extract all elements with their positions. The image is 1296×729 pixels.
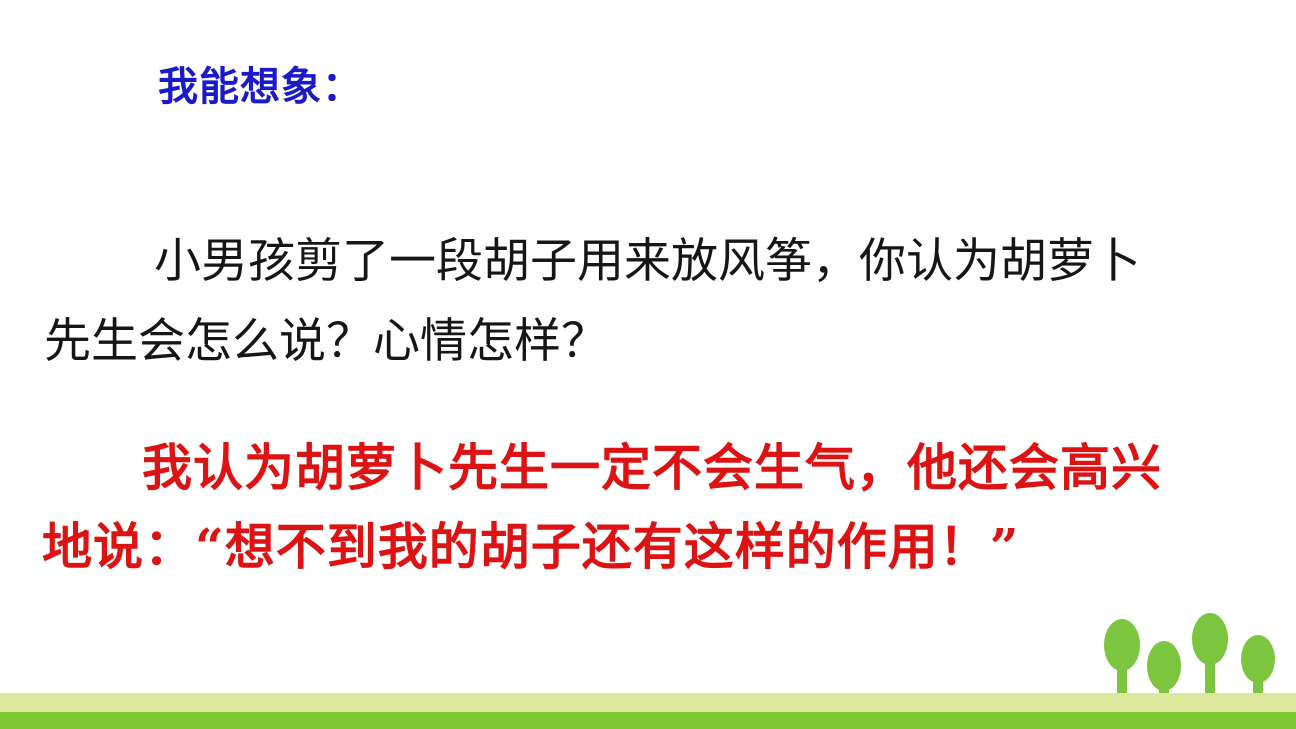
- answer-line-2: 地说：“想不到我的胡子还有这样的作用！”: [42, 507, 1262, 586]
- slide-heading: 我能想象：: [158, 64, 363, 110]
- tree-canopy-2: [1147, 641, 1181, 691]
- tree-trunk-1: [1117, 645, 1127, 712]
- question-line-2: 先生会怎么说？心情怎样？: [44, 302, 1244, 382]
- tree-trunk-2: [1159, 666, 1169, 729]
- bottom-decoration: [0, 589, 1296, 729]
- slide-canvas: 我能想象： 小男孩剪了一段胡子用来放风筝，你认为胡萝卜 先生会怎么说？心情怎样？…: [0, 0, 1296, 729]
- ground-band-green: [0, 712, 1296, 729]
- tree-canopy-3: [1192, 613, 1228, 665]
- ground-band-light: [0, 693, 1296, 712]
- tree-group: [1104, 613, 1275, 729]
- tree-trunk-4: [1253, 659, 1263, 729]
- tree-trunk-3: [1205, 639, 1215, 720]
- question-line-1: 小男孩剪了一段胡子用来放风筝，你认为胡萝卜: [44, 222, 1244, 302]
- answer-paragraph: 我认为胡萝卜先生一定不会生气，他还会高兴 地说：“想不到我的胡子还有这样的作用！…: [42, 428, 1262, 586]
- answer-line-1: 我认为胡萝卜先生一定不会生气，他还会高兴: [42, 428, 1262, 507]
- tree-canopy-4: [1241, 635, 1275, 683]
- tree-canopy-1: [1104, 619, 1140, 671]
- question-paragraph: 小男孩剪了一段胡子用来放风筝，你认为胡萝卜 先生会怎么说？心情怎样？: [44, 222, 1244, 382]
- decoration-svg: [0, 589, 1296, 729]
